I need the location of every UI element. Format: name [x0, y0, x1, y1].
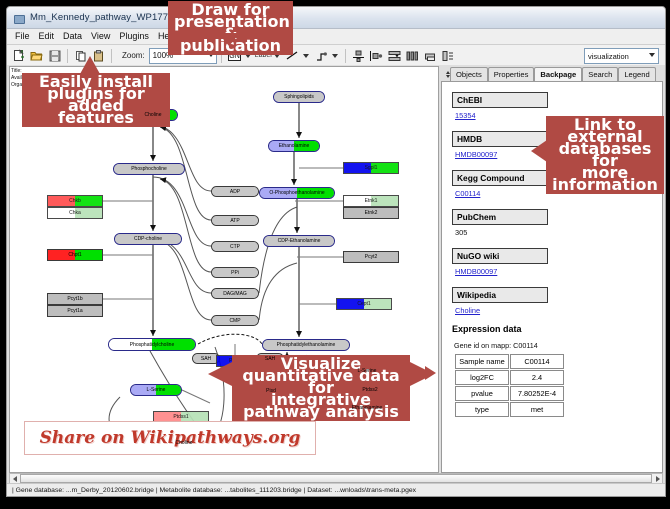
database-value: 305 — [455, 228, 662, 237]
node-label: Chka — [69, 210, 81, 216]
expression-row: typemet — [455, 402, 564, 417]
node-label: Phosphatidylcholine — [130, 342, 174, 348]
connector-icon[interactable] — [313, 47, 330, 64]
menu-file[interactable]: File — [11, 29, 35, 44]
status-bar: | Gene database: ...m_Derby_20120602.bri… — [7, 483, 665, 496]
node-label: ATP — [230, 218, 239, 224]
pathway-node-pcyt1a[interactable]: Pcyt1a — [47, 305, 103, 317]
node-label: CMP — [229, 318, 240, 324]
database-name: Kegg Compound — [452, 170, 548, 186]
pathway-node-sphingolipids[interactable]: Sphingolipids — [273, 91, 325, 103]
node-label: ADP — [230, 189, 240, 195]
scroll-right-icon[interactable] — [653, 475, 662, 482]
save-icon[interactable] — [46, 47, 63, 64]
menu-edit[interactable]: Edit — [35, 29, 60, 44]
visualization-value: visualization — [588, 52, 629, 61]
node-label: CDP-choline — [134, 236, 162, 242]
node-label: Phosphatidylethanolamine — [277, 342, 336, 348]
node-label: DAG/MAG — [223, 291, 247, 297]
expression-value: 7.80252E-4 — [510, 386, 564, 401]
node-label: Pisd — [266, 388, 276, 394]
expression-data-title: Expression data — [452, 324, 662, 334]
node-label: Pcyt1b — [67, 296, 82, 302]
pathway-node-atp[interactable]: ATP — [211, 215, 259, 226]
node-label: CTP — [230, 244, 240, 250]
pathway-node-phosphatidylcholine[interactable]: Phosphatidylcholine — [108, 338, 196, 351]
pathway-node-pcyt1b[interactable]: Pcyt1b — [47, 293, 103, 305]
draw-callout: Draw for presentation & publication — [168, 1, 293, 55]
open-icon[interactable] — [28, 47, 45, 64]
pathway-node-chkb[interactable]: Chkb — [47, 195, 103, 207]
gene-id-line: Gene id on mapp: C00114 — [454, 341, 662, 350]
toolbar-separator-4 — [345, 49, 346, 63]
toolbar-separator-1 — [67, 49, 68, 63]
menu-data[interactable]: Data — [59, 29, 87, 44]
pathway-node-sgpl1[interactable]: Sgpl1 — [343, 162, 399, 174]
node-label: L-Serine — [358, 368, 377, 374]
node-label: Etnk2 — [365, 210, 378, 216]
pathway-node-dag-mag[interactable]: DAG/MAG — [211, 288, 259, 299]
tab-objects[interactable]: Objects — [450, 67, 488, 81]
node-label: Cept1 — [357, 301, 370, 307]
screenshot-root: Mm_Kennedy_pathway_WP1771_45176.gpml Fil… — [0, 0, 670, 509]
node-label: Chpt1 — [68, 252, 81, 258]
node-label: SAH — [265, 356, 275, 362]
visualize-callout-line1: Visualize quantitative data for — [238, 358, 404, 394]
scroll-left-icon[interactable] — [10, 475, 19, 482]
expression-row: Sample nameC00114 — [455, 354, 564, 369]
pathway-node-cmp[interactable]: CMP — [211, 315, 259, 326]
plugins-callout: Easily install plugins for added feature… — [22, 73, 170, 127]
chevron-down-icon — [649, 53, 655, 57]
node-label: Choline — [176, 440, 193, 446]
node-label: Chkb — [69, 198, 81, 204]
expression-row: pvalue7.80252E-4 — [455, 386, 564, 401]
expression-row: log2FC2.4 — [455, 370, 564, 385]
database-block-pubchem: PubChem305 — [452, 207, 662, 237]
links-callout-line3: more information — [552, 167, 658, 191]
database-name: ChEBI — [452, 92, 548, 108]
node-label: Ptdss1 — [173, 414, 188, 420]
pathway-node-chpt1[interactable]: Chpt1 — [47, 249, 103, 261]
node-label: Sgpl1 — [365, 165, 378, 171]
scrollbar-thumb[interactable] — [20, 474, 652, 483]
pathway-node-etnk2[interactable]: Etnk2 — [343, 207, 399, 219]
expression-key: pvalue — [455, 386, 509, 401]
node-label: Ethanolamine — [352, 405, 383, 411]
share-callout-text: Share on Wikipathways.org — [40, 428, 301, 448]
pathway-node-phosphatidylethanolamine[interactable]: Phosphatidylethanolamine — [262, 339, 350, 351]
zoom-label: Zoom: — [122, 51, 145, 60]
node-label: CDP-Ethanolamine — [278, 238, 321, 244]
pathway-node-adp[interactable]: ADP — [211, 186, 259, 197]
database-name: Wikipedia — [452, 287, 548, 303]
pathway-node-l-serine-left[interactable]: L-Serine — [130, 384, 182, 396]
pathvisio-icon — [13, 12, 25, 24]
draw-callout-arrow — [218, 33, 240, 46]
node-label: Phosphocholine — [131, 166, 167, 172]
expression-callout-arrow — [425, 366, 436, 380]
database-link[interactable]: Choline — [455, 306, 662, 315]
pathway-node-chka[interactable]: Chka — [47, 207, 103, 219]
pathway-node-pcyt2[interactable]: Pcyt2 — [343, 251, 399, 263]
side-panel-tabs: Objects Properties Backpage Search Legen… — [441, 66, 663, 81]
expression-key: type — [455, 402, 509, 417]
node-label: Ethanolamine — [279, 143, 310, 149]
toolbar-separator-2 — [111, 49, 112, 63]
visualization-combo[interactable]: visualization — [584, 48, 659, 64]
node-label: Pcyt1a — [67, 308, 82, 314]
database-block-wikipedia: WikipediaCholine — [452, 285, 662, 315]
pathway-node-ppi[interactable]: PPi — [211, 267, 259, 278]
node-label: Ptdss2 — [362, 387, 377, 393]
expression-key: log2FC — [455, 370, 509, 385]
pathway-node-ethanolamine[interactable]: Ethanolamine — [268, 140, 320, 152]
node-label: Choline — [145, 112, 162, 118]
node-label: Pcyt2 — [365, 254, 378, 260]
expression-value: met — [510, 402, 564, 417]
visualize-callout: Visualize quantitative data for integrat… — [232, 355, 410, 421]
stack-icon[interactable] — [386, 47, 403, 64]
pathway-node-ctp[interactable]: CTP — [211, 241, 259, 252]
order-icon[interactable] — [440, 47, 457, 64]
pathway-node-etnk1[interactable]: Etnk1 — [343, 195, 399, 207]
tab-legend[interactable]: Legend — [618, 67, 655, 81]
chevron-down-icon[interactable] — [303, 54, 309, 58]
menu-view[interactable]: View — [87, 29, 115, 44]
node-label: L-Serine — [147, 387, 166, 393]
pathway-node-cept1[interactable]: Cept1 — [336, 298, 392, 310]
node-label: O-Phosphoethanolamine — [269, 190, 324, 196]
expression-value: 2.4 — [510, 370, 564, 385]
links-callout: Link to external databases for more info… — [546, 116, 664, 194]
node-label: PPi — [231, 270, 239, 276]
size-icon[interactable] — [404, 47, 421, 64]
database-name: NuGO wiki — [452, 248, 548, 264]
node-label: Sphingolipids — [284, 94, 314, 100]
group-icon[interactable] — [422, 47, 439, 64]
expression-key: Sample name — [455, 354, 509, 369]
plugins-callout-arrow — [80, 56, 100, 74]
tool-bar: Zoom: 100% GN Label visualization — [7, 45, 665, 67]
expression-value: C00114 — [510, 354, 564, 369]
align-icon[interactable] — [350, 47, 367, 64]
status-text: | Gene database: ...m_Derby_20120602.bri… — [7, 487, 416, 494]
pathway-node-cdp-ethanolamine[interactable]: CDP-Ethanolamine — [263, 235, 335, 247]
expression-table: Sample nameC00114log2FC2.4pvalue7.80252E… — [454, 353, 565, 418]
pathway-node-phosphocholine[interactable]: Phosphocholine — [113, 163, 185, 175]
visualize-callout-arrow-left — [208, 362, 232, 386]
tab-search[interactable]: Search — [582, 67, 618, 81]
node-label: SAH — [201, 356, 211, 362]
chevron-down-icon[interactable] — [332, 54, 338, 58]
pathway-node-ophosphoethanolamine[interactable]: O-Phosphoethanolamine — [259, 187, 335, 199]
node-label: Etnk1 — [365, 198, 378, 204]
tab-backpage[interactable]: Backpage — [534, 67, 582, 82]
distribute-icon[interactable] — [368, 47, 385, 64]
share-callout: Share on Wikipathways.org — [24, 421, 316, 455]
pathway-node-cdp-choline[interactable]: CDP-choline — [114, 233, 182, 245]
menu-plugins[interactable]: Plugins — [115, 29, 154, 44]
menu-bar: File Edit Data View Plugins Help — [7, 29, 665, 45]
tab-properties[interactable]: Properties — [488, 67, 535, 81]
database-link[interactable]: HMDB00097 — [455, 267, 662, 276]
database-name: PubChem — [452, 209, 548, 225]
new-icon[interactable] — [10, 47, 27, 64]
title-bar: Mm_Kennedy_pathway_WP1771_45176.gpml — [7, 7, 665, 29]
links-callout-arrow — [531, 140, 547, 162]
database-block-nugo-wiki: NuGO wikiHMDB00097 — [452, 246, 662, 276]
